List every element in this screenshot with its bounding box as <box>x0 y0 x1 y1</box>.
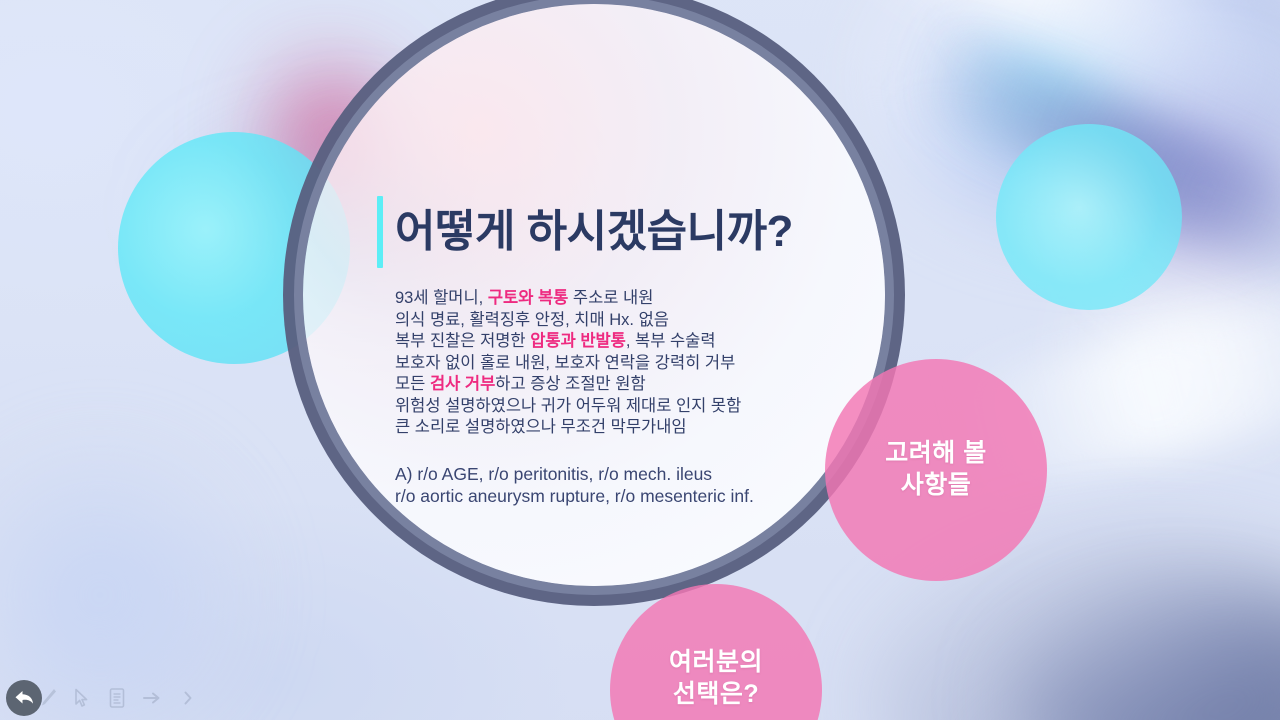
case-text: 큰 소리로 설명하였으나 무조건 막무가내임 <box>395 418 687 436</box>
case-line: 위험성 설명하였으나 귀가 어두워 제대로 인지 못함 <box>395 396 827 418</box>
presentation-slide: 어떻게 하시겠습니까? 93세 할머니, 구토와 복통 주소로 내원 의식 명료… <box>0 0 1280 720</box>
page-title: 어떻게 하시겠습니까? <box>395 196 793 268</box>
right-arrow-icon <box>142 689 164 707</box>
assessment-block: A) r/o AGE, r/o peritonitis, r/o mech. i… <box>395 463 827 507</box>
case-text: 보호자 없이 홀로 내원, 보호자 연락을 강력히 거부 <box>395 354 735 372</box>
advance-button[interactable] <box>178 685 198 711</box>
pointer-tool[interactable] <box>68 685 94 711</box>
assessment-line: A) r/o AGE, r/o peritonitis, r/o mech. i… <box>395 463 827 485</box>
pink-circle-your-choice-line-1: 여러분의 <box>610 646 822 678</box>
case-line: 큰 소리로 설명하였으나 무조건 막무가내임 <box>395 417 827 439</box>
case-line: 복부 진찰은 저명한 압통과 반발통, 복부 수술력 <box>395 331 827 353</box>
title-accent-bar <box>377 196 383 268</box>
back-arrow-icon <box>13 688 35 708</box>
case-highlight: 검사 거부 <box>430 375 495 393</box>
case-text: 위험성 설명하였으나 귀가 어두워 제대로 인지 못함 <box>395 397 741 415</box>
case-text: 복부 진찰은 저명한 <box>395 332 530 350</box>
cyan-accent-circle-right <box>996 124 1182 310</box>
case-highlight: 구토와 복통 <box>488 289 568 307</box>
pink-circle-your-choice-label: 여러분의 선택은? <box>610 646 822 710</box>
pink-circle-considerations-line-2: 사항들 <box>825 469 1047 501</box>
presentation-toolbar[interactable] <box>0 676 214 720</box>
pink-circle-considerations-line-1: 고려해 볼 <box>825 437 1047 469</box>
next-slide[interactable] <box>140 685 166 711</box>
slide-title-row: 어떻게 하시겠습니까? <box>377 196 827 268</box>
case-text: 93세 할머니, <box>395 289 488 307</box>
pink-circle-considerations: 고려해 볼 사항들 <box>825 359 1047 581</box>
document-icon <box>108 687 126 709</box>
cursor-arrow-icon <box>73 688 89 708</box>
pen-tool[interactable] <box>38 687 58 709</box>
pen-icon <box>38 687 58 709</box>
chevron-right-icon <box>182 689 194 707</box>
case-text: 모든 <box>395 375 430 393</box>
case-text: 주소로 내원 <box>568 289 653 307</box>
assessment-line: r/o aortic aneurysm rupture, r/o mesente… <box>395 485 827 507</box>
case-line: 93세 할머니, 구토와 복통 주소로 내원 <box>395 288 827 310</box>
case-line: 보호자 없이 홀로 내원, 보호자 연락을 강력히 거부 <box>395 353 827 375</box>
case-highlight: 압통과 반발통 <box>530 332 626 350</box>
case-line: 의식 명료, 활력징후 안정, 치매 Hx. 없음 <box>395 310 827 332</box>
case-text: 의식 명료, 활력징후 안정, 치매 Hx. 없음 <box>395 311 669 329</box>
slide-content: 어떻게 하시겠습니까? 93세 할머니, 구토와 복통 주소로 내원 의식 명료… <box>377 196 827 507</box>
case-description-block: 93세 할머니, 구토와 복통 주소로 내원 의식 명료, 활력징후 안정, 치… <box>395 288 827 439</box>
case-line: 모든 검사 거부하고 증상 조절만 원함 <box>395 374 827 396</box>
pink-circle-considerations-label: 고려해 볼 사항들 <box>825 437 1047 501</box>
slide-menu[interactable] <box>104 685 130 711</box>
case-text: 하고 증상 조절만 원함 <box>495 375 645 393</box>
back-button[interactable] <box>6 680 42 716</box>
pink-circle-your-choice-line-2: 선택은? <box>610 678 822 710</box>
case-text: , 복부 수술력 <box>626 332 716 350</box>
